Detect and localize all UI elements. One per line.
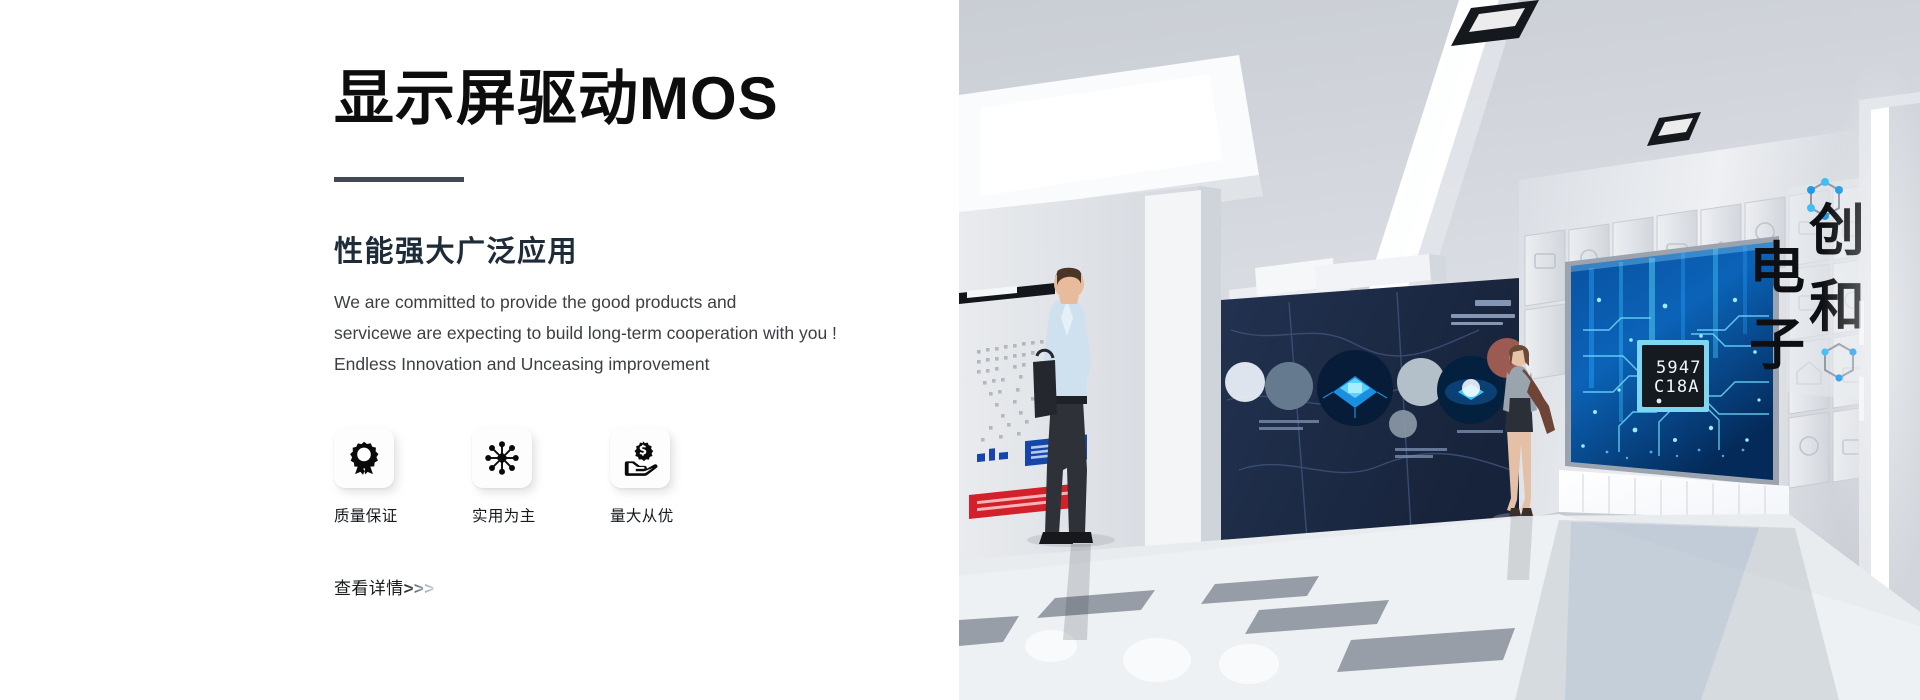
chip-label-line1: 5947 <box>1656 358 1702 378</box>
network-hub-icon <box>484 440 520 476</box>
feature-label: 质量保证 <box>334 504 414 526</box>
feature-item-bulk-discount[interactable]: 量大从优 <box>610 428 690 526</box>
view-detail-text: 查看详情 <box>334 579 404 598</box>
hero-banner: 显示屏驱动MOS 性能强大广泛应用 We are committed to pr… <box>0 0 1920 700</box>
feature-label: 实用为主 <box>472 504 552 526</box>
svg-text:电: 电 <box>1749 237 1805 300</box>
hand-money-icon <box>622 440 658 476</box>
svg-text:子: 子 <box>1749 313 1805 376</box>
chevron-right-icon: >>> <box>404 579 435 598</box>
showroom-photo: 5947 C18A <box>959 0 1920 700</box>
feature-item-quality[interactable]: 质量保证 <box>334 428 414 526</box>
content-column: 显示屏驱动MOS 性能强大广泛应用 We are committed to pr… <box>334 0 894 599</box>
feature-item-practical[interactable]: 实用为主 <box>472 428 552 526</box>
feature-icon-tile <box>334 428 394 488</box>
paragraph-line-1: We are committed to provide the good pro… <box>334 287 864 318</box>
page-title: 显示屏驱动MOS <box>334 62 894 135</box>
chip-label-line2: C18A <box>1654 377 1700 397</box>
showroom-illustration: 5947 C18A <box>959 0 1920 700</box>
led-screen: 5947 C18A <box>1565 236 1779 486</box>
paragraph-line-3: Endless Innovation and Unceasing improve… <box>334 349 864 380</box>
section-subtitle: 性能强大广泛应用 <box>334 228 894 270</box>
paragraph-line-2: servicewe are expecting to build long-te… <box>334 318 864 349</box>
feature-label: 量大从优 <box>610 504 690 526</box>
intro-paragraph: We are committed to provide the good pro… <box>334 287 864 380</box>
title-divider <box>334 177 464 182</box>
feature-list: 质量保证 <box>334 428 894 526</box>
feature-icon-tile <box>610 428 670 488</box>
view-detail-link[interactable]: 查看详情>>> <box>334 574 435 599</box>
feature-icon-tile <box>472 428 532 488</box>
award-ribbon-icon <box>346 440 382 476</box>
left-text-panel: 显示屏驱动MOS 性能强大广泛应用 We are committed to pr… <box>0 0 959 700</box>
